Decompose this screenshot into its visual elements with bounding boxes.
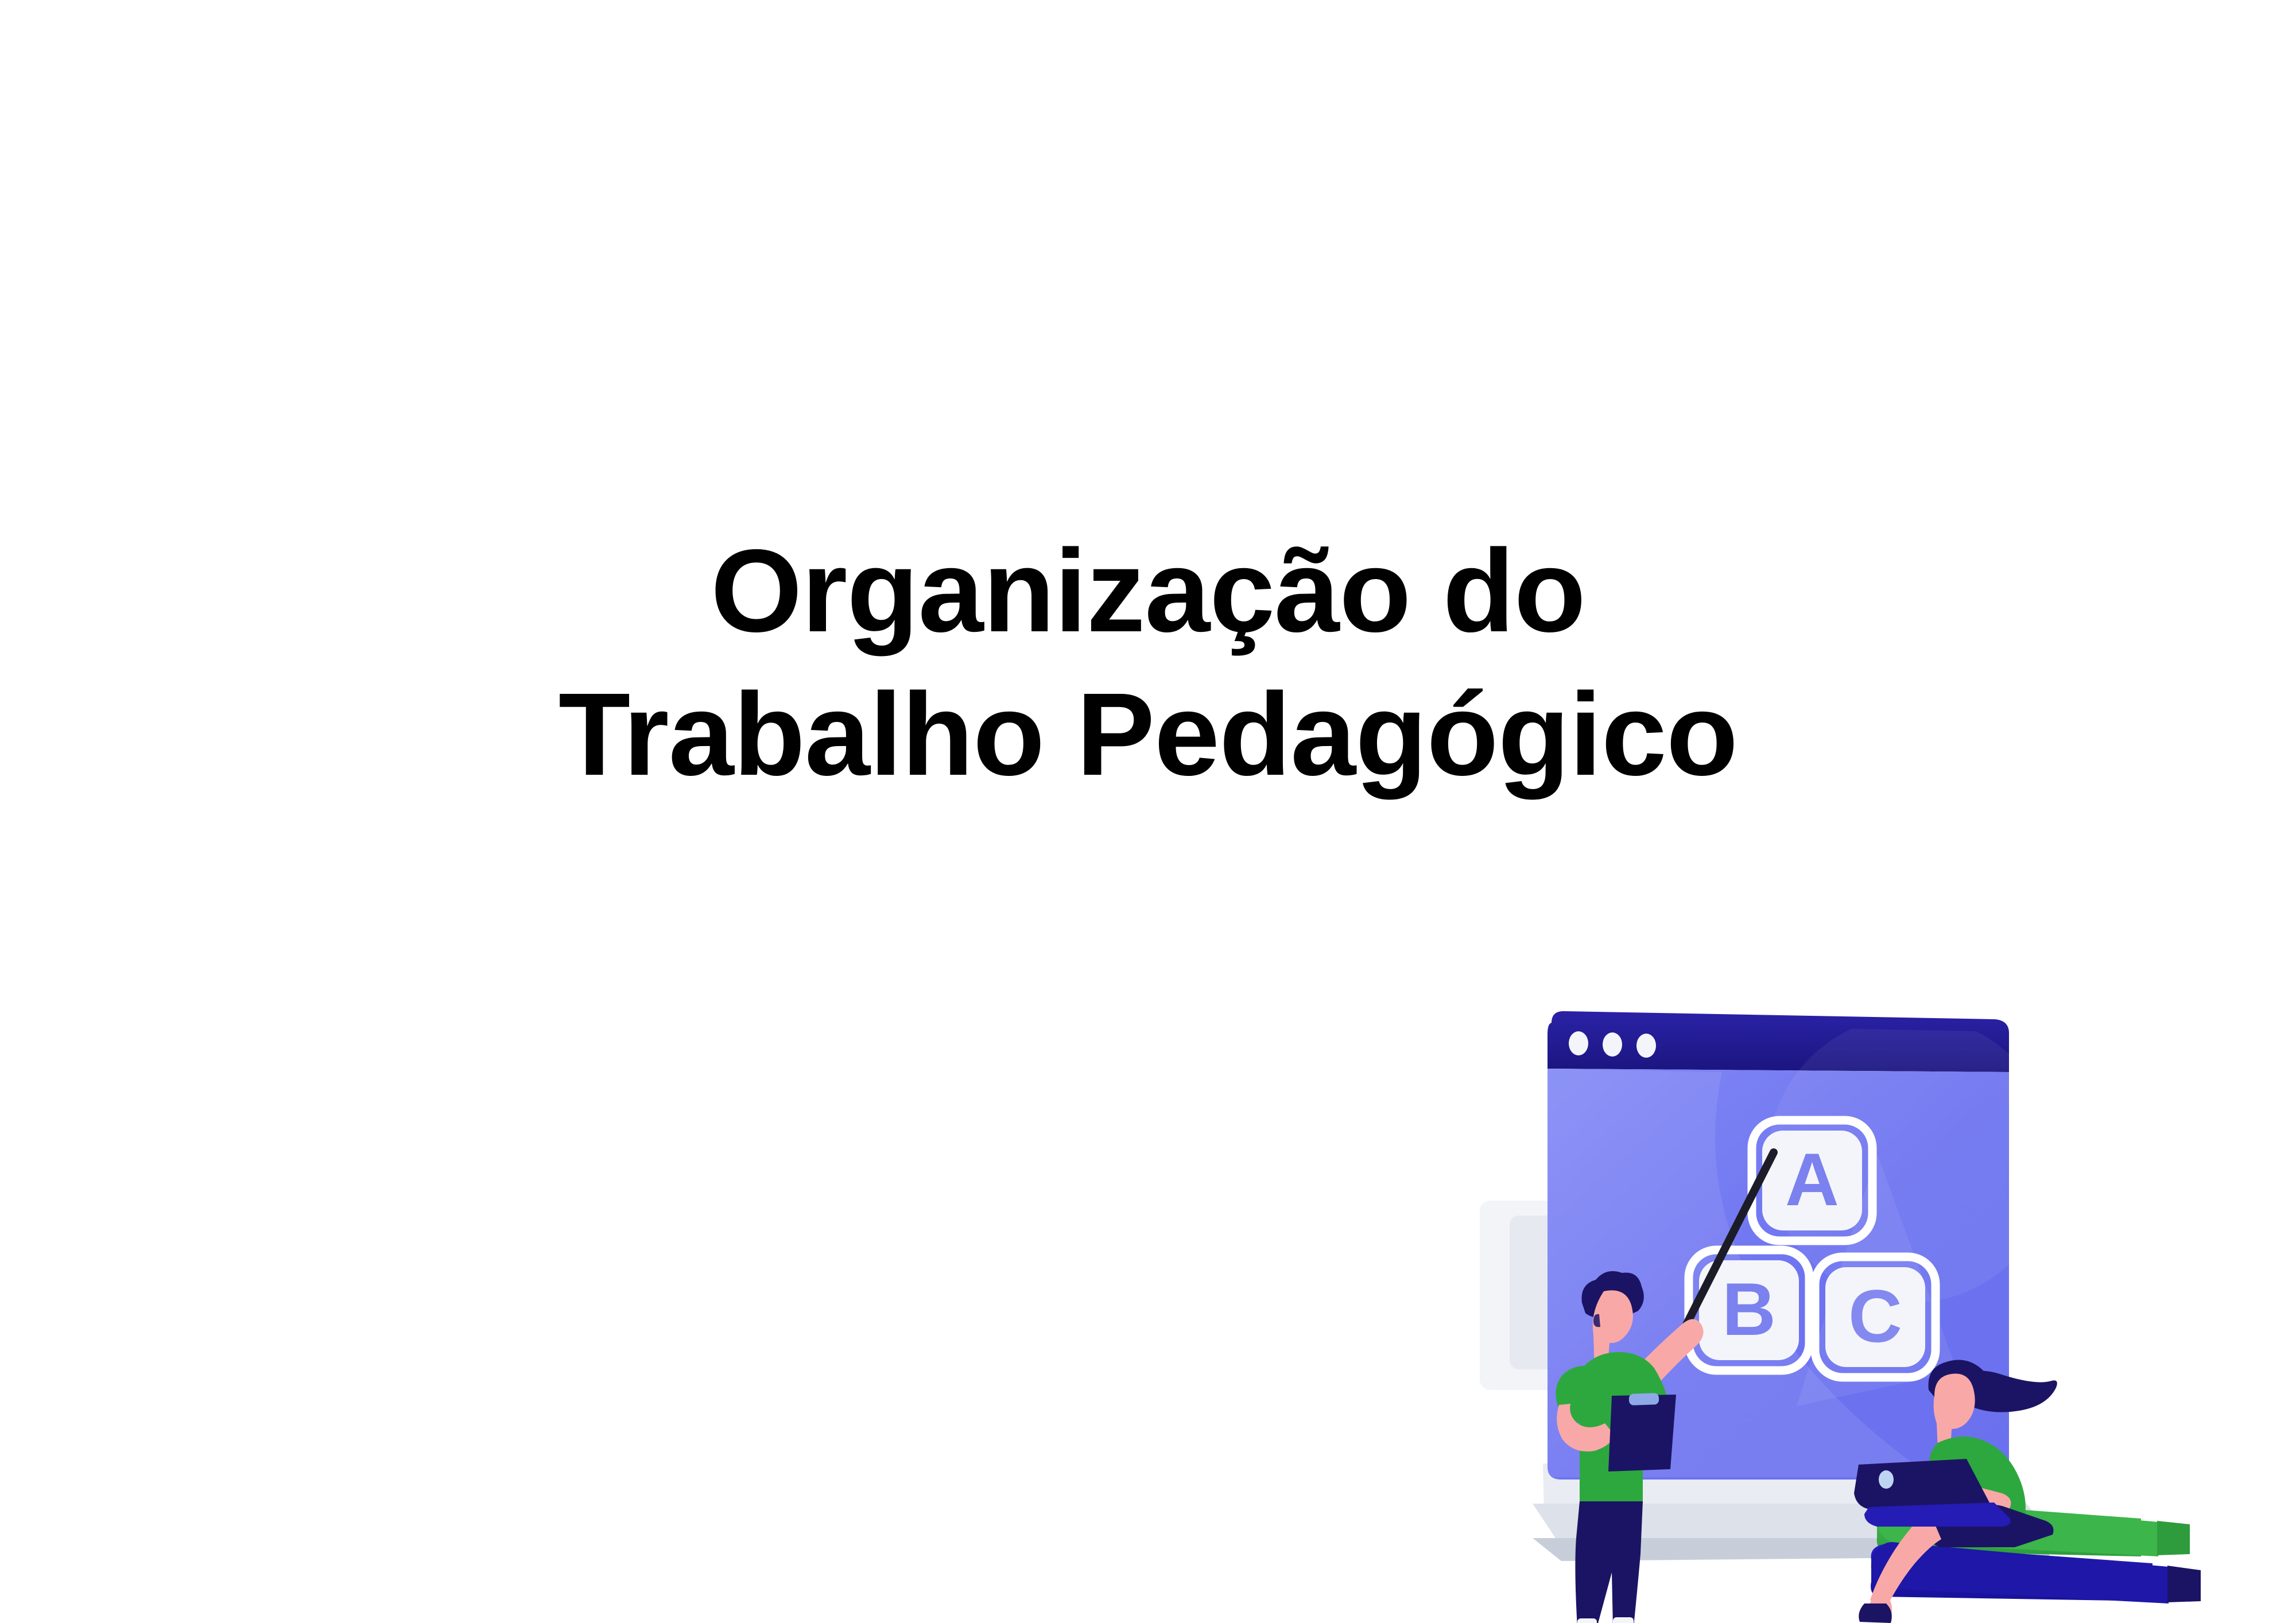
block-a-letter: A <box>1785 1137 1839 1221</box>
teacher-clipboard <box>1608 1393 1676 1471</box>
page-title: Organização do Trabalho Pedagógico <box>0 519 2296 806</box>
illustration-svg: A B C <box>1475 970 2296 1623</box>
block-b-letter: B <box>1722 1267 1776 1351</box>
slide-canvas: Organização do Trabalho Pedagógico <box>0 0 2296 1623</box>
dot-1-icon <box>1569 1031 1588 1055</box>
browser-dots <box>1569 1031 1656 1058</box>
education-illustration: A B C <box>1475 970 2296 1623</box>
dot-2-icon <box>1603 1032 1622 1057</box>
title-line-2: Trabalho Pedagógico <box>0 663 2296 806</box>
title-line-1: Organização do <box>0 519 2296 663</box>
dot-3-icon <box>1636 1034 1656 1058</box>
block-b: B <box>1689 1250 1809 1370</box>
teacher-pants <box>1575 1501 1643 1623</box>
student-shoe <box>1859 1603 1892 1623</box>
block-a: A <box>1752 1120 1872 1241</box>
